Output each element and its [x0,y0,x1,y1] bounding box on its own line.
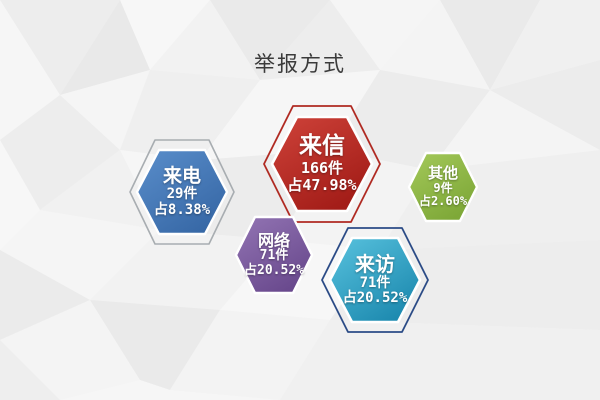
hex-body-wangluo [236,217,312,293]
hex-node-laifang[interactable]: 来访 71件 占20.52% [320,226,430,334]
hex-node-laidian[interactable]: 来电 29件 占8.38% [128,138,236,246]
hex-node-laixin[interactable]: 来信 166件 占47.98% [262,104,382,224]
infographic-canvas: 举报方式 来电 29件 占8.38% [0,0,600,400]
hex-body-laifang [330,238,420,322]
hex-body-laixin [272,117,372,211]
hex-node-qita[interactable]: 其他 9件 占2.60% [405,149,481,225]
hex-body-laidian [137,150,227,234]
hex-body-qita [409,153,477,221]
hex-node-wangluo[interactable]: 网络 71件 占20.52% [232,213,316,297]
page-title: 举报方式 [0,48,600,78]
